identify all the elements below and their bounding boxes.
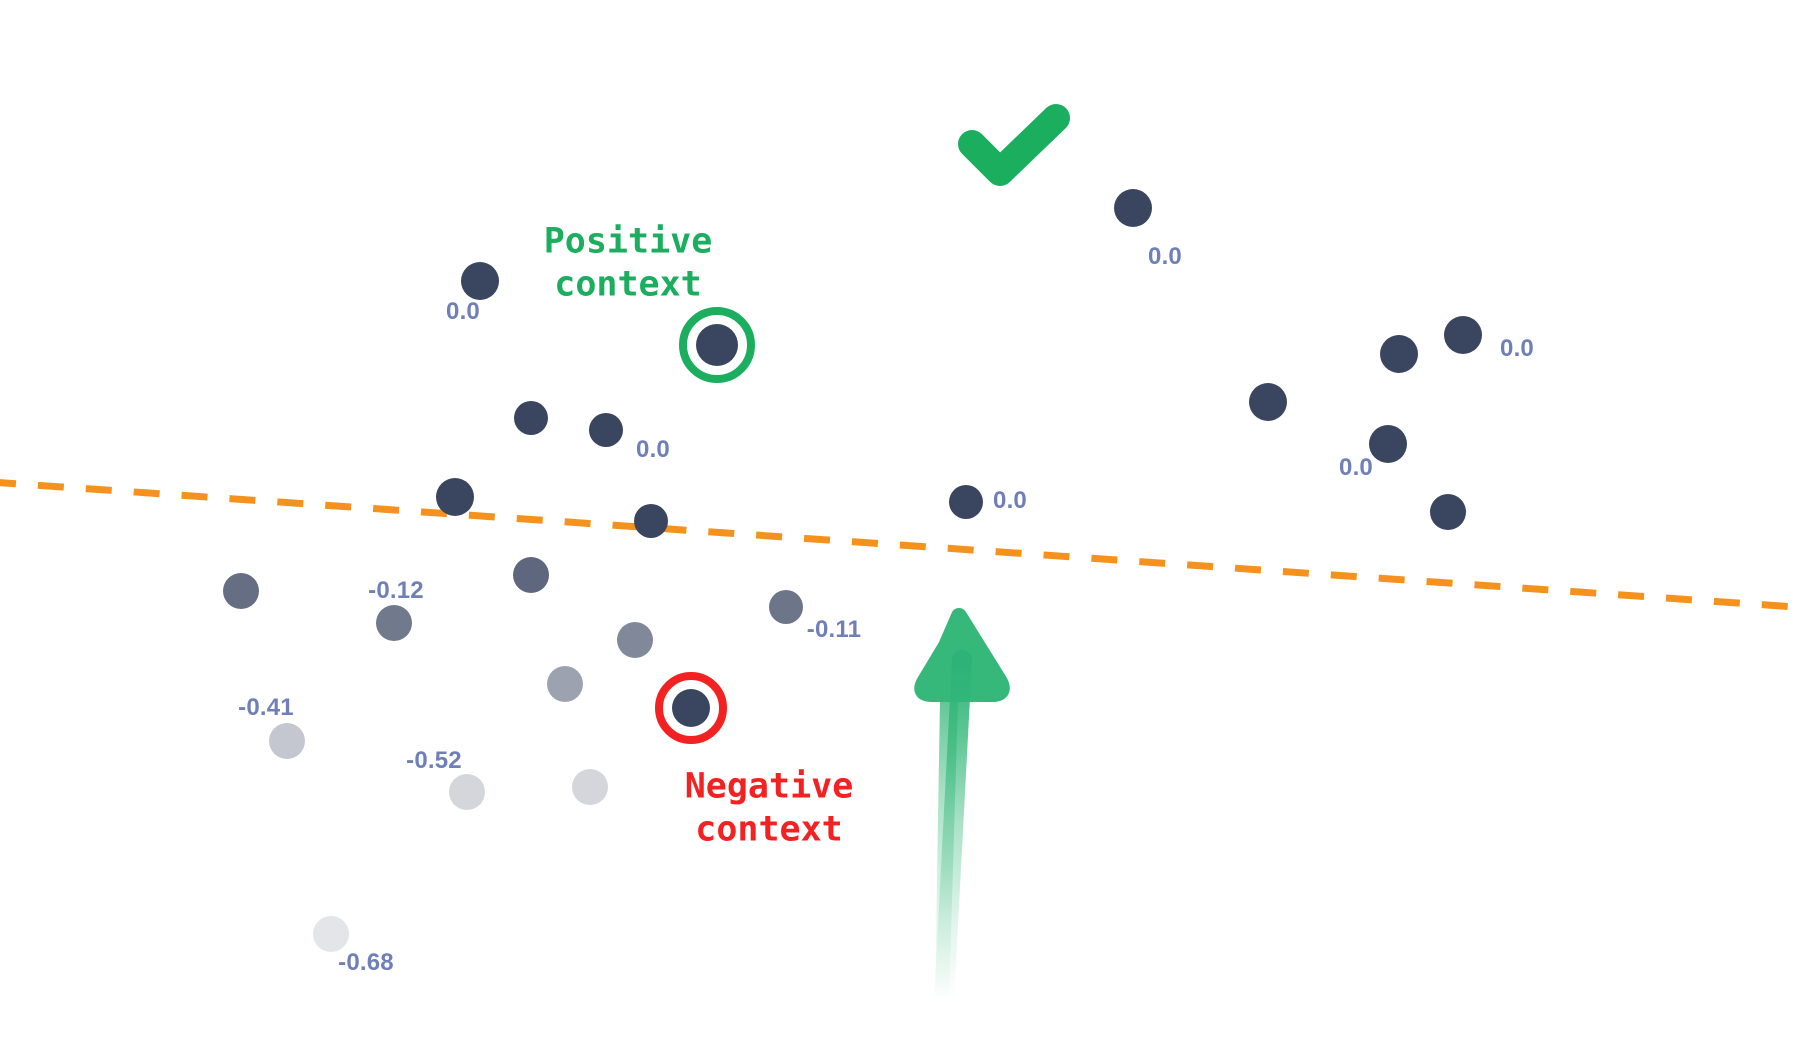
data-point[interactable] — [436, 478, 474, 516]
data-point[interactable] — [949, 485, 983, 519]
data-point[interactable] — [1249, 383, 1287, 421]
data-point[interactable] — [1430, 494, 1466, 530]
data-point[interactable] — [514, 401, 548, 435]
data-point[interactable] — [1369, 425, 1407, 463]
data-point[interactable] — [461, 262, 499, 300]
up-arrow-icon — [922, 610, 1002, 1000]
decision-boundary — [0, 482, 1798, 608]
data-point[interactable] — [513, 557, 549, 593]
highlight-rings — [659, 311, 751, 740]
data-point[interactable] — [269, 723, 305, 759]
data-point[interactable] — [376, 605, 412, 641]
data-point[interactable] — [634, 504, 668, 538]
data-point[interactable] — [449, 774, 485, 810]
data-point[interactable] — [617, 622, 653, 658]
check-mark-icon — [972, 118, 1056, 172]
data-point[interactable] — [769, 590, 803, 624]
data-point[interactable] — [223, 573, 259, 609]
data-point[interactable] — [547, 666, 583, 702]
data-point[interactable] — [572, 769, 608, 805]
plot-svg — [0, 0, 1798, 1056]
data-point[interactable] — [1444, 316, 1482, 354]
data-point[interactable] — [589, 413, 623, 447]
scatter-plot-canvas: 0.00.00.00.00.00.0-0.12-0.11-0.41-0.52-0… — [0, 0, 1798, 1056]
decision-boundary-line — [0, 482, 1798, 608]
data-point[interactable] — [1380, 335, 1418, 373]
data-point[interactable] — [1114, 189, 1152, 227]
data-point[interactable] — [313, 916, 349, 952]
